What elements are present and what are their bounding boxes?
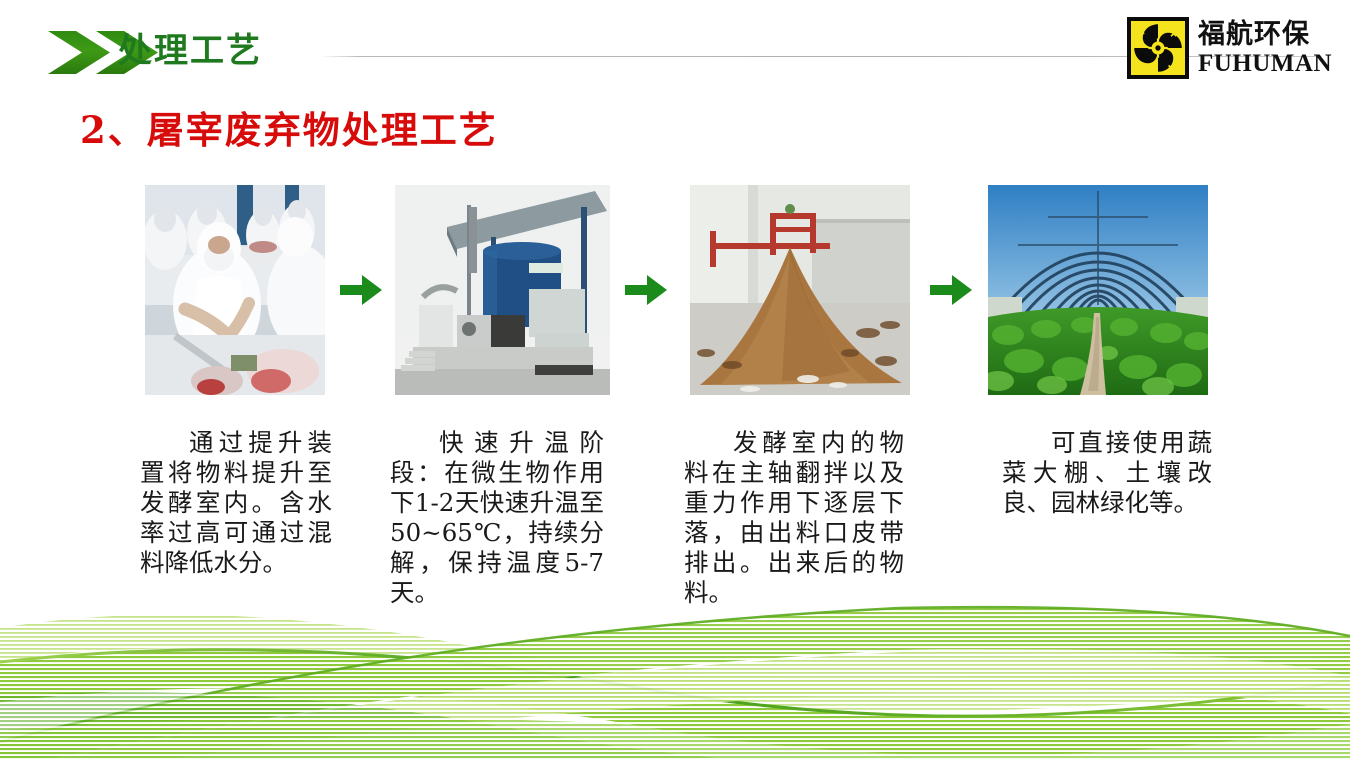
slaughterhouse-workers-photo <box>145 185 325 395</box>
step-caption-3: 发酵室内的物料在主轴翻拌以及重力作用下逐层下落，由出料口皮带排出。出来后的物料。 <box>684 428 904 608</box>
arrow-right-icon <box>625 273 667 307</box>
step-caption-1: 通过提升装置将物料提升至发酵室内。含水率过高可通过混料降低水分。 <box>140 428 332 578</box>
company-logo: F F F F 福航环保 FUHUMAN <box>1127 17 1332 79</box>
process-flow <box>0 185 1350 400</box>
arrow-right-icon <box>930 273 972 307</box>
green-wave-ribbon <box>0 584 1350 759</box>
page-title: 2、屠宰废弃物处理工艺 <box>80 100 498 154</box>
arrow-right-icon <box>340 273 382 307</box>
compost-pile-photo <box>690 185 910 395</box>
slide-header: 处理工艺 F F F F <box>0 0 1350 96</box>
step-caption-2: 快速升温阶段：在微生物作用下1-2天快速升温至50~65℃，持续分解，保持温度5… <box>390 428 604 608</box>
step-caption-4: 可直接使用蔬菜大棚、土壤改良、园林绿化等。 <box>1002 428 1212 518</box>
slide-root: 处理工艺 F F F F <box>0 0 1350 759</box>
logo-name-en: FUHUMAN <box>1198 51 1332 76</box>
fuhuman-pinwheel-emblem: F F F F <box>1127 17 1189 79</box>
logo-name-cn: 福航环保 <box>1198 21 1332 48</box>
fermentation-tank-photo <box>395 185 610 395</box>
header-title: 处理工艺 <box>118 29 262 73</box>
greenhouse-vegetables-photo <box>988 185 1208 395</box>
logo-wordmark: 福航环保 FUHUMAN <box>1198 21 1332 76</box>
